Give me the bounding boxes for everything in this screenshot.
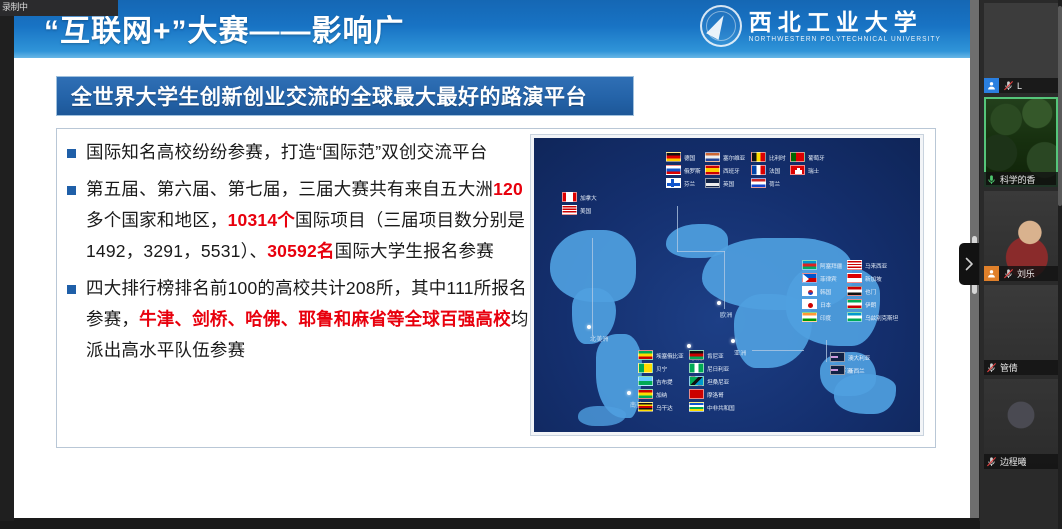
flag-cluster-africa: 埃塞俄比亚肯尼亚贝宁尼日利亚吉布提坦桑尼亚加纳摩洛哥乌干达中非共和国 bbox=[638, 350, 736, 412]
bullet-plain: 国际知名高校纷纷参赛，打造“国际范”双创交流平台 bbox=[86, 142, 487, 162]
flag-label: 贝宁 bbox=[656, 364, 667, 373]
university-logo: 西北工业大学 NORTHWESTERN POLYTECHNICAL UNIVER… bbox=[700, 5, 941, 47]
flag-label: 乌干达 bbox=[656, 403, 673, 412]
left-gutter bbox=[0, 0, 14, 529]
flag-cluster-oceania: 澳大利亚新西兰 bbox=[830, 352, 871, 375]
flag-my-icon bbox=[847, 260, 862, 270]
participant-tile[interactable]: 管倩 bbox=[984, 285, 1058, 375]
person-icon bbox=[987, 269, 996, 278]
slide-header: “互联网+”大赛——影响广 西北工业大学 NORTHWESTERN POLYTE… bbox=[14, 0, 979, 58]
flag-label: 比利时 bbox=[769, 153, 786, 162]
flag-rs-icon bbox=[705, 152, 720, 162]
bullet-item: 第五届、第六届、第七届，三届大赛共有来自五大洲120多个国家和地区，10314个… bbox=[67, 174, 535, 267]
screen-share-window: “互联网+”大赛——影响广 西北工业大学 NORTHWESTERN POLYTE… bbox=[0, 0, 1062, 529]
world-map-figure: 北美洲欧洲亚洲非洲大洋洲南美洲 加拿大美国德国塞尔维亚比利时葡萄牙俄罗斯西班牙法… bbox=[531, 135, 923, 435]
flag-cluster-europe: 德国塞尔维亚比利时葡萄牙俄罗斯西班牙法国瑞士芬兰英国荷兰 bbox=[666, 152, 825, 188]
flag-ph-icon bbox=[802, 273, 817, 283]
leader-line bbox=[724, 251, 725, 309]
bullet-square-icon bbox=[67, 285, 76, 294]
flag-label: 摩洛哥 bbox=[707, 390, 724, 399]
flag-item: 乌兹别克斯坦 bbox=[847, 312, 900, 322]
mic-muted-icon[interactable] bbox=[1001, 268, 1015, 279]
flag-label: 阿塞拜疆 bbox=[820, 261, 842, 270]
flag-item: 比利时 bbox=[751, 152, 786, 162]
bullet-square-icon bbox=[67, 149, 76, 158]
bullet-text: 国际知名高校纷纷参赛，打造“国际范”双创交流平台 bbox=[86, 137, 487, 168]
flag-item: 也门 bbox=[847, 286, 900, 296]
recording-indicator: 录制中 bbox=[0, 0, 118, 16]
flag-label: 新加坡 bbox=[865, 274, 882, 283]
flag-label: 马来西亚 bbox=[865, 261, 887, 270]
map-region-dot bbox=[627, 391, 631, 395]
slide-banner: 全世界大学生创新创业交流的全球最大最好的路演平台 bbox=[56, 76, 634, 116]
flag-sg-icon bbox=[847, 273, 862, 283]
flag-item: 摩洛哥 bbox=[689, 389, 736, 399]
participant-tile-footer: 管倩 bbox=[984, 360, 1058, 375]
flag-label: 塞尔维亚 bbox=[723, 153, 745, 162]
participant-name: 刘乐 bbox=[1017, 267, 1035, 280]
flag-label: 肯尼亚 bbox=[707, 351, 724, 360]
bullet-plain: 国际大学生报名参赛 bbox=[335, 241, 494, 261]
recording-label: 录制中 bbox=[2, 2, 28, 12]
flag-pt-icon bbox=[790, 152, 805, 162]
flag-item: 中非共和国 bbox=[689, 402, 736, 412]
flag-label: 吉布提 bbox=[656, 377, 673, 386]
flag-label: 俄罗斯 bbox=[684, 166, 701, 175]
flag-item: 芬兰 bbox=[666, 178, 701, 188]
flag-item: 德国 bbox=[666, 152, 701, 162]
flag-item: 西班牙 bbox=[705, 165, 746, 175]
university-name-cn: 西北工业大学 bbox=[749, 9, 941, 35]
bullet-text: 第五届、第六届、第七届，三届大赛共有来自五大洲120多个国家和地区，10314个… bbox=[86, 174, 535, 267]
flag-gh-icon bbox=[638, 389, 653, 399]
flag-jp-icon bbox=[802, 299, 817, 309]
flag-item: 美国 bbox=[562, 205, 597, 215]
flag-ke-icon bbox=[689, 350, 704, 360]
flag-ye-icon bbox=[847, 286, 862, 296]
flag-label: 也门 bbox=[865, 287, 876, 296]
flag-item: 俄罗斯 bbox=[666, 165, 701, 175]
leader-line bbox=[677, 206, 678, 252]
flag-item: 伊朗 bbox=[847, 299, 900, 309]
landmass bbox=[834, 374, 896, 414]
flag-label: 中非共和国 bbox=[707, 403, 735, 412]
map-region-dot bbox=[687, 344, 691, 348]
flag-label: 加纳 bbox=[656, 390, 667, 399]
flag-label: 瑞士 bbox=[808, 166, 819, 175]
map-region-dot bbox=[587, 325, 591, 329]
participant-tile-footer: 科学的香 bbox=[984, 172, 1058, 187]
flag-uz-icon bbox=[847, 312, 862, 322]
flag-item: 马来西亚 bbox=[847, 260, 900, 270]
participant-tile[interactable]: L bbox=[984, 3, 1058, 93]
avatar bbox=[984, 78, 999, 93]
flag-au-icon bbox=[830, 352, 845, 362]
flag-item: 埃塞俄比亚 bbox=[638, 350, 685, 360]
flag-item: 阿塞拜疆 bbox=[802, 260, 843, 270]
bullet-plain: 多个国家和地区， bbox=[86, 210, 228, 230]
bullet-plain: 第五届、第六届、第七届，三届大赛共有来自五大洲 bbox=[86, 179, 493, 199]
flag-tz-icon bbox=[689, 376, 704, 386]
flag-item: 乌干达 bbox=[638, 402, 685, 412]
flag-ru-icon bbox=[666, 165, 681, 175]
avatar bbox=[984, 266, 999, 281]
map-region-dot bbox=[731, 339, 735, 343]
flag-label: 坦桑尼亚 bbox=[707, 377, 729, 386]
bullet-text: 四大排行榜排名前100的高校共计208所，其中111所报名参赛，牛津、剑桥、哈佛… bbox=[86, 273, 535, 366]
flag-cluster-north-america: 加拿大美国 bbox=[562, 192, 597, 215]
bottom-gutter bbox=[0, 521, 980, 529]
flag-ca-icon bbox=[562, 192, 577, 202]
flag-item: 印度 bbox=[802, 312, 843, 322]
flag-item: 贝宁 bbox=[638, 363, 685, 373]
flag-label: 荷兰 bbox=[769, 179, 780, 188]
mic-active-icon[interactable] bbox=[984, 174, 998, 185]
bullet-item: 国际知名高校纷纷参赛，打造“国际范”双创交流平台 bbox=[67, 137, 535, 168]
mic-muted-icon[interactable] bbox=[1001, 80, 1015, 91]
flag-item: 坦桑尼亚 bbox=[689, 376, 736, 386]
flag-label: 英国 bbox=[723, 179, 734, 188]
flag-cf-icon bbox=[689, 402, 704, 412]
leader-line bbox=[592, 238, 593, 336]
flag-es-icon bbox=[705, 165, 720, 175]
flag-fr-icon bbox=[751, 165, 766, 175]
flag-item: 新加坡 bbox=[847, 273, 900, 283]
flag-label: 葡萄牙 bbox=[808, 153, 825, 162]
flag-de-icon bbox=[666, 152, 681, 162]
bullet-highlight: 牛津、剑桥、哈佛、耶鲁和麻省等全球百强高校 bbox=[139, 309, 511, 329]
participant-name: 边程曦 bbox=[1000, 455, 1026, 468]
map-region-label: 欧洲 bbox=[720, 310, 732, 319]
participant-tile-footer: 刘乐 bbox=[984, 266, 1058, 281]
flag-et-icon bbox=[638, 350, 653, 360]
flag-fi-icon bbox=[666, 178, 681, 188]
chevron-right-icon bbox=[964, 257, 974, 271]
flag-item: 法国 bbox=[751, 165, 786, 175]
participant-tile-footer: 边程曦 bbox=[984, 454, 1058, 469]
mic-muted-icon[interactable] bbox=[984, 456, 998, 467]
flag-label: 加拿大 bbox=[580, 193, 597, 202]
participant-rail[interactable]: L科学的香刘乐管倩边程曦 bbox=[980, 0, 1062, 529]
participant-rail-scrollbar-thumb[interactable] bbox=[1058, 6, 1062, 206]
flag-bj-icon bbox=[638, 363, 653, 373]
flag-label: 埃塞俄比亚 bbox=[656, 351, 684, 360]
flag-item: 日本 bbox=[802, 299, 843, 309]
bullet-highlight: 10314个 bbox=[228, 210, 295, 230]
flag-label: 德国 bbox=[684, 153, 695, 162]
university-emblem-icon bbox=[700, 5, 742, 47]
bullet-square-icon bbox=[67, 186, 76, 195]
participant-tile[interactable]: 边程曦 bbox=[984, 379, 1058, 469]
map-region-label: 北美洲 bbox=[590, 334, 609, 343]
bullet-highlight: 120 bbox=[493, 179, 523, 199]
participant-name: 管倩 bbox=[1000, 361, 1018, 374]
flag-item: 吉布提 bbox=[638, 376, 685, 386]
flag-ch-icon bbox=[790, 165, 805, 175]
flag-ug-icon bbox=[638, 402, 653, 412]
flag-item: 新西兰 bbox=[830, 365, 871, 375]
flag-item: 塞尔维亚 bbox=[705, 152, 746, 162]
map-region-dot bbox=[717, 301, 721, 305]
flag-item: 澳大利亚 bbox=[830, 352, 871, 362]
flag-item: 加拿大 bbox=[562, 192, 597, 202]
leader-line bbox=[752, 350, 804, 351]
flag-label: 法国 bbox=[769, 166, 780, 175]
flag-label: 西班牙 bbox=[723, 166, 740, 175]
flag-ir-icon bbox=[847, 299, 862, 309]
flag-label: 美国 bbox=[580, 206, 591, 215]
flag-cluster-asia: 阿塞拜疆马来西亚菲律宾新加坡韩国也门日本伊朗印度乌兹别克斯坦 bbox=[802, 260, 900, 322]
flag-label: 澳大利亚 bbox=[848, 353, 870, 362]
flag-gb-icon bbox=[705, 178, 720, 188]
flag-kr-icon bbox=[802, 286, 817, 296]
participant-tile[interactable]: 科学的香 bbox=[984, 97, 1058, 187]
flag-az-icon bbox=[802, 260, 817, 270]
participant-tile[interactable]: 刘乐 bbox=[984, 191, 1058, 281]
person-icon bbox=[987, 81, 996, 90]
flag-item: 荷兰 bbox=[751, 178, 786, 188]
flag-ng-icon bbox=[689, 363, 704, 373]
bullet-highlight: 30592名 bbox=[267, 241, 334, 261]
flag-label: 新西兰 bbox=[848, 366, 865, 375]
shared-slide-stage[interactable]: “互联网+”大赛——影响广 西北工业大学 NORTHWESTERN POLYTE… bbox=[14, 0, 979, 521]
flag-nz-icon bbox=[830, 365, 845, 375]
participant-name: L bbox=[1017, 81, 1022, 91]
university-name-en: NORTHWESTERN POLYTECHNICAL UNIVERSITY bbox=[749, 34, 941, 44]
flag-label: 尼日利亚 bbox=[707, 364, 729, 373]
landmass bbox=[578, 406, 626, 426]
participant-name: 科学的香 bbox=[1000, 173, 1035, 186]
flag-item: 韩国 bbox=[802, 286, 843, 296]
flag-item: 英国 bbox=[705, 178, 746, 188]
flag-item: 加纳 bbox=[638, 389, 685, 399]
flag-label: 日本 bbox=[820, 300, 831, 309]
flag-item: 肯尼亚 bbox=[689, 350, 736, 360]
flag-label: 芬兰 bbox=[684, 179, 695, 188]
participant-tile-footer: L bbox=[984, 78, 1058, 93]
flag-nl-icon bbox=[751, 178, 766, 188]
leader-line bbox=[826, 340, 827, 362]
leader-line bbox=[677, 251, 725, 252]
slide-content-panel: 国际知名高校纷纷参赛，打造“国际范”双创交流平台第五届、第六届、第七届，三届大赛… bbox=[56, 128, 936, 448]
participant-rail-scrollbar[interactable] bbox=[1058, 0, 1062, 529]
flag-item: 尼日利亚 bbox=[689, 363, 736, 373]
flag-label: 乌兹别克斯坦 bbox=[865, 313, 898, 322]
flag-item: 菲律宾 bbox=[802, 273, 843, 283]
flag-label: 印度 bbox=[820, 313, 831, 322]
bullet-list: 国际知名高校纷纷参赛，打造“国际范”双创交流平台第五届、第六届、第七届，三届大赛… bbox=[67, 137, 535, 372]
flag-us-icon bbox=[562, 205, 577, 215]
flag-item: 瑞士 bbox=[790, 165, 825, 175]
flag-label: 伊朗 bbox=[865, 300, 876, 309]
slide-banner-text: 全世界大学生创新创业交流的全球最大最好的路演平台 bbox=[71, 81, 587, 111]
flag-item: 葡萄牙 bbox=[790, 152, 825, 162]
flag-be-icon bbox=[751, 152, 766, 162]
flag-ma-icon bbox=[689, 389, 704, 399]
mic-muted-icon[interactable] bbox=[984, 362, 998, 373]
flag-label: 菲律宾 bbox=[820, 274, 837, 283]
flag-label: 韩国 bbox=[820, 287, 831, 296]
bullet-item: 四大排行榜排名前100的高校共计208所，其中111所报名参赛，牛津、剑桥、哈佛… bbox=[67, 273, 535, 366]
flag-dj-icon bbox=[638, 376, 653, 386]
world-map-canvas: 北美洲欧洲亚洲非洲大洋洲南美洲 加拿大美国德国塞尔维亚比利时葡萄牙俄罗斯西班牙法… bbox=[534, 138, 920, 432]
flag-in-icon bbox=[802, 312, 817, 322]
expand-panel-button[interactable] bbox=[959, 243, 979, 285]
